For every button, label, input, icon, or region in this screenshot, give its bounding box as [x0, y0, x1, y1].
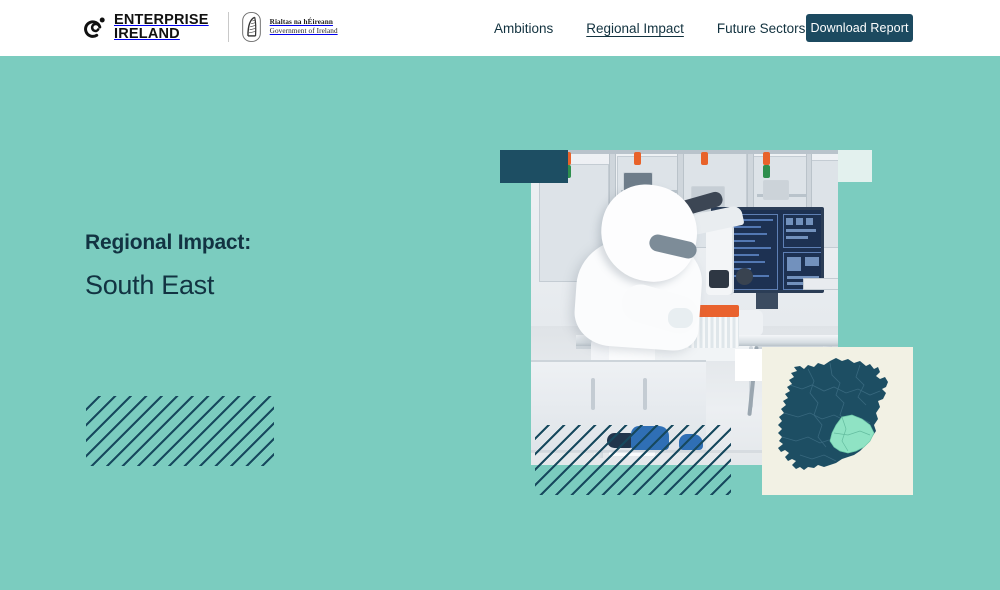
white-square-accent [735, 349, 765, 381]
download-report-button[interactable]: Download Report [806, 14, 913, 42]
decorative-hatch-photo [535, 425, 731, 495]
nav-item-regional-impact[interactable]: Regional Impact [586, 21, 684, 36]
hero-collage [0, 0, 1000, 590]
nav-item-future-sectors[interactable]: Future Sectors [717, 21, 806, 36]
ei-line1: ENTERPRISE [114, 13, 209, 28]
brand-group: ENTERPRISE IRELAND [84, 12, 338, 42]
ei-line2: IRELAND [114, 27, 209, 42]
ireland-map [770, 355, 905, 487]
navy-square-accent [500, 150, 568, 183]
brand-divider [228, 12, 229, 42]
government-of-ireland-logo[interactable]: Rialtas na hÉireann Government of Irelan… [242, 12, 338, 42]
irish-harp-emblem [242, 12, 261, 42]
gov-english-text: Government of Ireland [270, 27, 338, 36]
nav-item-ambitions[interactable]: Ambitions [494, 21, 553, 36]
ireland-map-card [762, 347, 913, 495]
site-header: ENTERPRISE IRELAND [0, 0, 1000, 56]
gov-irish-text: Rialtas na hÉireann [270, 18, 338, 27]
enterprise-ireland-logo[interactable]: ENTERPRISE IRELAND [84, 13, 209, 42]
government-wordmark: Rialtas na hÉireann Government of Irelan… [270, 18, 338, 36]
mint-square-accent [838, 150, 872, 182]
enterprise-ireland-spiral-mark [84, 16, 107, 39]
enterprise-ireland-wordmark: ENTERPRISE IRELAND [114, 13, 209, 42]
main-navigation: Ambitions Regional Impact Future Sectors [494, 0, 838, 56]
